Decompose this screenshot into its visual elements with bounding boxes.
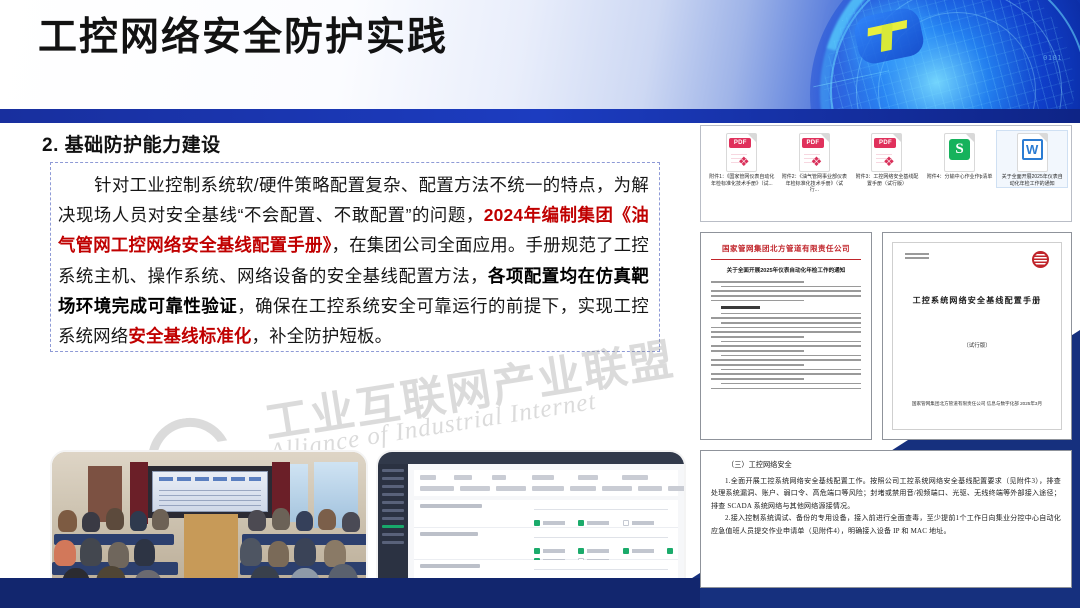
notice-doc-rule	[711, 259, 861, 260]
notice-doc-title: 关于全面开展2025年仪表自动化年检工作的通知	[707, 267, 865, 275]
webshot-question-row	[414, 500, 678, 528]
content-paragraph: 针对工业控制系统软/硬件策略配置复杂、配置方法不统一的特点，为解决现场人员对安全…	[58, 170, 649, 351]
manual-cover-subtitle: （试行版）	[893, 341, 1061, 349]
notice-document-image: 国家管网集团北方管道有限责任公司 关于全面开展2025年仪表自动化年检工作的通知	[700, 232, 872, 440]
page-title: 工控网络安全防护实践	[38, 17, 448, 60]
policy-text-para-2: 2.接入控制系统调试、备份的专用设备，接入前进行全面查毒，至少提前1个工作日向集…	[711, 512, 1061, 537]
webshot-question-row	[414, 528, 678, 560]
file-caption: 附件4：分输中心作业作þ清单	[925, 174, 995, 181]
para-seg-red-2: 安全基线标准化	[128, 326, 251, 346]
tech-globe-graphic: 01011 0110 1001 0110 0101	[650, 0, 1080, 110]
slide: 01011 0110 1001 0110 0101 工控网络安全防护实践 2. …	[0, 0, 1080, 608]
word-document-icon: W	[1017, 133, 1048, 172]
wps-spreadsheet-icon: S	[944, 133, 975, 172]
manual-cover-meta	[905, 253, 929, 262]
file-caption: 关于全面开展2025年仪表自动化年检工作的通知	[997, 174, 1067, 187]
pdf-badge: PDF	[729, 138, 751, 148]
pdf-glyph-icon: ❖	[810, 154, 823, 169]
file-list: PDF ❖ 附件1：《国家管网仪表自动化年检标准化技术手册》（试... PDF …	[701, 126, 1071, 194]
baseline-config-checklist-screenshot	[376, 450, 686, 598]
section-heading: 2. 基础防护能力建设	[42, 130, 221, 157]
para-seg-7: ，补全防护短板。	[252, 326, 393, 346]
pdf-file-icon: PDF ❖	[871, 133, 902, 172]
photo-projector-screen	[152, 471, 268, 512]
spreadsheet-badge: S	[949, 139, 970, 160]
manual-cover-image: 工控系统网络安全基线配置手册 （试行版） 国家管网集团北方管道有限责任公司 信息…	[882, 232, 1072, 440]
policy-text-inner: （三）工控网络安全 1.全面开展工控系统网络安全基线配置工作。按照公司工控系统网…	[711, 458, 1061, 580]
pdf-badge: PDF	[874, 138, 896, 148]
file-caption: 附件3：工控网络安全基线配置手册（试行版）	[852, 174, 922, 187]
training-conference-photo	[50, 450, 368, 598]
notice-doc-org: 国家管网集团北方管道有限责任公司	[707, 243, 865, 254]
pdf-file-icon: PDF ❖	[799, 133, 830, 172]
pdf-glyph-icon: ❖	[882, 154, 895, 169]
webshot-filter-bar	[414, 470, 678, 496]
hud-text-c: 0101	[1043, 54, 1062, 62]
header-blue-band	[0, 109, 1080, 123]
pdf-glyph-icon: ❖	[737, 154, 750, 169]
file-item[interactable]: PDF ❖ 附件2：《油气管网事业部仪表年检标准化技术手册》（试行...	[780, 131, 850, 194]
manual-cover-inner: 工控系统网络安全基线配置手册 （试行版） 国家管网集团北方管道有限责任公司 信息…	[892, 242, 1062, 430]
policy-text-heading: （三）工控网络安全	[727, 460, 1061, 470]
policy-text-para-2-body: 2.接入控制系统调试、备份的专用设备，接入前进行全面查毒，至少提前1个工作日向集…	[711, 514, 1061, 534]
bottom-left-blue-band	[0, 578, 700, 608]
word-badge: W	[1022, 139, 1043, 160]
content-textbox: 针对工业控制系统软/硬件策略配置复杂、配置方法不统一的特点，为解决现场人员对安全…	[50, 162, 660, 352]
policy-text-document-image: （三）工控网络安全 1.全面开展工控系统网络安全基线配置工作。按照公司工控系统网…	[700, 450, 1072, 588]
file-item-selected[interactable]: W 关于全面开展2025年仪表自动化年检工作的通知	[997, 131, 1067, 187]
webshot-topbar	[378, 452, 686, 464]
pdf-badge: PDF	[802, 138, 824, 148]
file-caption: 附件1：《国家管网仪表自动化年检标准化技术手册》（试...	[707, 174, 777, 187]
manual-cover-title: 工控系统网络安全基线配置手册	[893, 295, 1061, 306]
pdf-file-icon: PDF ❖	[726, 133, 757, 172]
file-caption: 附件2：《油气管网事业部仪表年检标准化技术手册》（试行...	[780, 174, 850, 194]
file-item[interactable]: S 附件4：分输中心作业作þ清单	[925, 131, 995, 181]
file-item[interactable]: PDF ❖ 附件1：《国家管网仪表自动化年检标准化技术手册》（试...	[707, 131, 777, 187]
policy-text-para-1: 1.全面开展工控系统网络安全基线配置工作。按照公司工控系统网络安全基线配置要求（…	[711, 475, 1061, 512]
file-item[interactable]: PDF ❖ 附件3：工控网络安全基线配置手册（试行版）	[852, 131, 922, 187]
file-attachments-panel: PDF ❖ 附件1：《国家管网仪表自动化年检标准化技术手册》（试... PDF …	[700, 125, 1072, 222]
notice-doc-body	[707, 281, 865, 389]
manual-cover-footer: 国家管网集团北方管道有限责任公司 信息与数字化部 2025年3月	[893, 400, 1061, 407]
slide-header: 01011 0110 1001 0110 0101 工控网络安全防护实践	[0, 0, 1080, 110]
webshot-main	[408, 464, 684, 596]
notice-doc-inner: 国家管网集团北方管道有限责任公司 关于全面开展2025年仪表自动化年检工作的通知	[707, 239, 865, 433]
policy-text-para-1-body: 1.全面开展工控系统网络安全基线配置工作。按照公司工控系统网络安全基线配置要求（…	[711, 477, 1061, 510]
webshot-sidebar	[378, 464, 408, 596]
company-seal-icon	[1032, 251, 1049, 268]
